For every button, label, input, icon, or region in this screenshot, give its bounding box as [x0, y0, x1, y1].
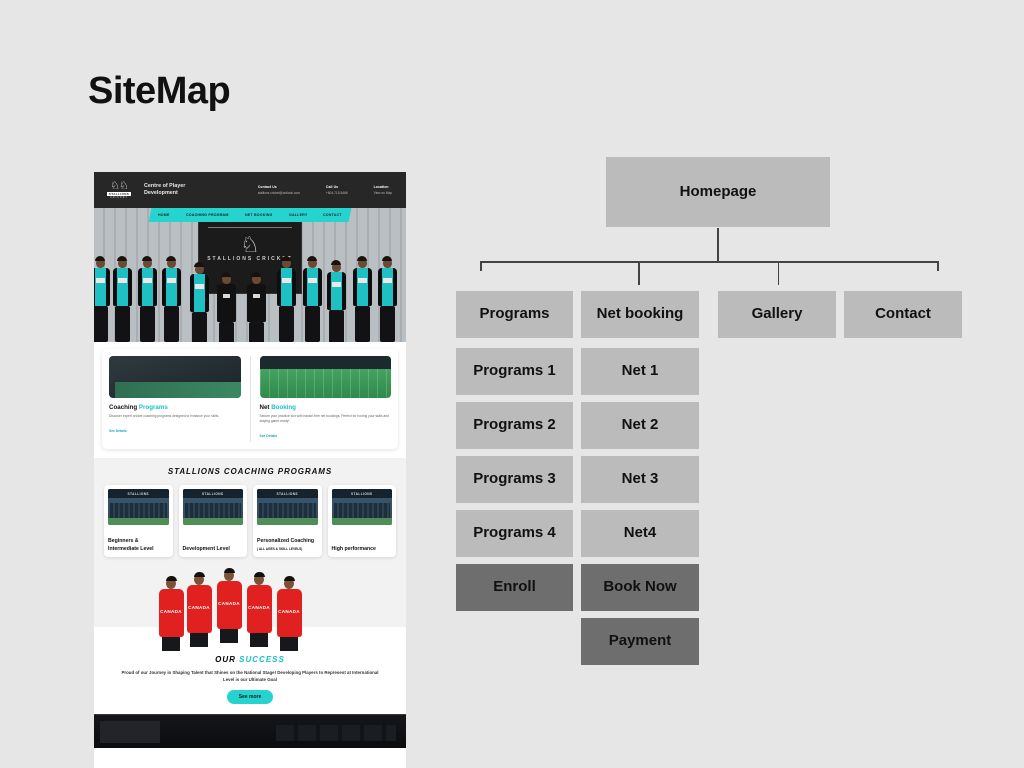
node-programs-3-label: Programs 3	[473, 471, 556, 488]
program-card-banner: STALLIONS	[332, 489, 393, 498]
node-net-3-label: Net 3	[622, 471, 659, 488]
node-net-4-label: Net4	[624, 525, 657, 542]
success-title-b: SUCCESS	[239, 655, 285, 664]
program-card-title: High performance	[332, 542, 393, 554]
programs-heading: STALLIONS COACHING PROGRAMS	[104, 467, 396, 476]
program-card-image: STALLIONS	[257, 489, 318, 525]
program-card-grass	[108, 518, 169, 525]
card-divider	[250, 356, 251, 442]
program-card-team	[259, 503, 316, 519]
program-card-team	[185, 503, 242, 519]
success-title: OUR SUCCESS	[94, 655, 406, 664]
hero-banner-text: HOME OF STALLIONS	[212, 218, 289, 224]
connector-stub-net-booking	[638, 261, 640, 285]
connector-stub-gallery	[778, 261, 779, 285]
hero-banner-rule	[208, 227, 292, 228]
coaching-card-link[interactable]: See Details	[109, 429, 127, 433]
node-net-2-label: Net 2	[622, 417, 659, 434]
program-card-grass	[257, 518, 318, 525]
mockup-programs-section: STALLIONS COACHING PROGRAMS STALLIONS Be…	[94, 458, 406, 569]
crest-glyph: ♘♘	[110, 181, 128, 191]
header-contact-group: Contact Us stallions.cricket@outlook.com…	[258, 185, 392, 195]
program-card-title: Beginners & Intermediate Level	[108, 534, 169, 553]
mockup-success-section: CANADA CANADA CANADA CANADA CANADA OUR S…	[94, 569, 406, 714]
jersey-text: CANADA	[277, 609, 302, 614]
node-payment-label: Payment	[609, 633, 672, 650]
contact-block-location[interactable]: Location View on Map	[374, 185, 392, 195]
net-card-title-a: Net	[260, 404, 272, 411]
coaching-card-title-b: Programs	[139, 404, 168, 411]
success-copy: Proud of our Journey in Shaping Talent t…	[116, 669, 384, 683]
program-card-image: STALLIONS	[332, 489, 393, 525]
program-card-title-note: ( ALL AGES & SKILL LEVELS)	[257, 546, 318, 554]
program-card-team	[334, 503, 391, 519]
node-programs[interactable]: Programs	[456, 291, 573, 338]
contact-email-value: stallions.cricket@outlook.com	[258, 191, 300, 195]
contact-block-email[interactable]: Contact Us stallions.cricket@outlook.com	[258, 185, 300, 195]
mockup-hero-photo: HOME OF STALLIONS ♘ STALLIONS CRICKET	[94, 208, 406, 342]
page-title: SiteMap	[88, 70, 230, 113]
node-programs-4-label: Programs 4	[473, 525, 556, 542]
jersey-text: CANADA	[159, 609, 184, 614]
program-card-team	[110, 503, 167, 519]
mockup-feature-cards: Coaching Programs Discover expert cricke…	[94, 342, 406, 458]
program-card-grass	[183, 518, 244, 525]
program-card-development[interactable]: STALLIONS Development Level	[179, 485, 248, 557]
net-booking-card-image	[260, 356, 392, 398]
programs-card-row: STALLIONS Beginners & Intermediate Level…	[104, 485, 396, 557]
node-programs-4[interactable]: Programs 4	[456, 510, 573, 557]
feature-card-net-booking[interactable]: Net Booking Secure your practice slot wi…	[260, 356, 392, 442]
node-enroll-label: Enroll	[493, 579, 536, 596]
node-homepage[interactable]: Homepage	[606, 157, 830, 227]
program-card-image: STALLIONS	[108, 489, 169, 525]
program-card-beginners[interactable]: STALLIONS Beginners & Intermediate Level	[104, 485, 173, 557]
connector-root-vertical	[717, 228, 719, 262]
node-net-2[interactable]: Net 2	[581, 402, 699, 449]
node-net-3[interactable]: Net 3	[581, 456, 699, 503]
program-card-high-performance[interactable]: STALLIONS High performance	[328, 485, 397, 557]
node-net-booking[interactable]: Net booking	[581, 291, 699, 338]
node-book-now-label: Book Now	[603, 579, 676, 596]
net-card-link[interactable]: See Details	[260, 434, 278, 438]
jersey-text: CANADA	[247, 605, 272, 610]
net-card-body: Secure your practice slot with hassle-fr…	[260, 414, 392, 424]
coaching-card-title-a: Coaching	[109, 404, 139, 411]
contact-block-phone[interactable]: Call Us +604-715-5466	[326, 185, 348, 195]
program-card-banner: STALLIONS	[108, 489, 169, 498]
website-mockup-preview: ♘♘ STALLIONS CRICKET Centre of Player De…	[94, 172, 406, 768]
coaching-card-image	[109, 356, 241, 398]
program-card-grass	[332, 518, 393, 525]
node-payment[interactable]: Payment	[581, 618, 699, 665]
feature-card-coaching[interactable]: Coaching Programs Discover expert cricke…	[109, 356, 241, 442]
contact-email-label: Contact Us	[258, 185, 300, 189]
program-card-title: Personalized Coaching( ALL AGES & SKILL …	[257, 534, 318, 553]
node-net-booking-label: Net booking	[597, 306, 684, 323]
node-net-1[interactable]: Net 1	[581, 348, 699, 395]
mockup-footer-image	[94, 714, 406, 748]
node-programs-1[interactable]: Programs 1	[456, 348, 573, 395]
node-enroll[interactable]: Enroll	[456, 564, 573, 611]
node-programs-3[interactable]: Programs 3	[456, 456, 573, 503]
program-card-title-main: Personalized Coaching	[257, 538, 314, 544]
jersey-text: CANADA	[217, 601, 242, 606]
contact-location-value: View on Map	[374, 191, 392, 195]
node-contact-label: Contact	[875, 306, 931, 323]
node-programs-label: Programs	[479, 306, 549, 323]
net-card-title: Net Booking	[260, 404, 392, 411]
contact-phone-value: +604-715-5466	[326, 191, 348, 195]
jersey-text: CANADA	[187, 605, 212, 610]
coaching-card-body: Discover expert cricket coaching program…	[109, 414, 241, 419]
coaching-card-title: Coaching Programs	[109, 404, 241, 411]
connector-stub-contact	[937, 261, 939, 271]
program-card-personalized[interactable]: STALLIONS Personalized Coaching( ALL AGE…	[253, 485, 322, 557]
node-gallery[interactable]: Gallery	[718, 291, 836, 338]
node-programs-1-label: Programs 1	[473, 363, 556, 380]
node-homepage-label: Homepage	[680, 184, 757, 201]
success-players-photo: CANADA CANADA CANADA CANADA CANADA	[94, 569, 406, 653]
contact-phone-label: Call Us	[326, 185, 348, 189]
program-card-image: STALLIONS	[183, 489, 244, 525]
mockup-site-header: ♘♘ STALLIONS CRICKET Centre of Player De…	[94, 172, 406, 208]
program-card-title: Development Level	[183, 542, 244, 554]
connector-horizontal-bus	[480, 261, 939, 263]
hero-team-players	[94, 230, 406, 342]
connector-stub-programs	[480, 261, 482, 271]
program-card-banner: STALLIONS	[257, 489, 318, 498]
node-net-1-label: Net 1	[622, 363, 659, 380]
node-contact[interactable]: Contact	[844, 291, 962, 338]
node-gallery-label: Gallery	[752, 306, 803, 323]
contact-location-label: Location	[374, 185, 392, 189]
net-card-title-b: Booking	[271, 404, 296, 411]
node-programs-2-label: Programs 2	[473, 417, 556, 434]
program-card-banner: STALLIONS	[183, 489, 244, 498]
site-tagline: Centre of Player Development	[144, 183, 206, 197]
success-title-a: OUR	[215, 655, 239, 664]
stallions-logo-icon: ♘♘ STALLIONS CRICKET	[102, 177, 136, 203]
logo-subword: CRICKET	[110, 196, 128, 199]
node-net-4[interactable]: Net4	[581, 510, 699, 557]
see-more-button[interactable]: See more	[227, 690, 274, 704]
node-programs-2[interactable]: Programs 2	[456, 402, 573, 449]
sitemap-page: SiteMap Homepage Programs Net booking Ga…	[0, 0, 1024, 768]
node-book-now[interactable]: Book Now	[581, 564, 699, 611]
